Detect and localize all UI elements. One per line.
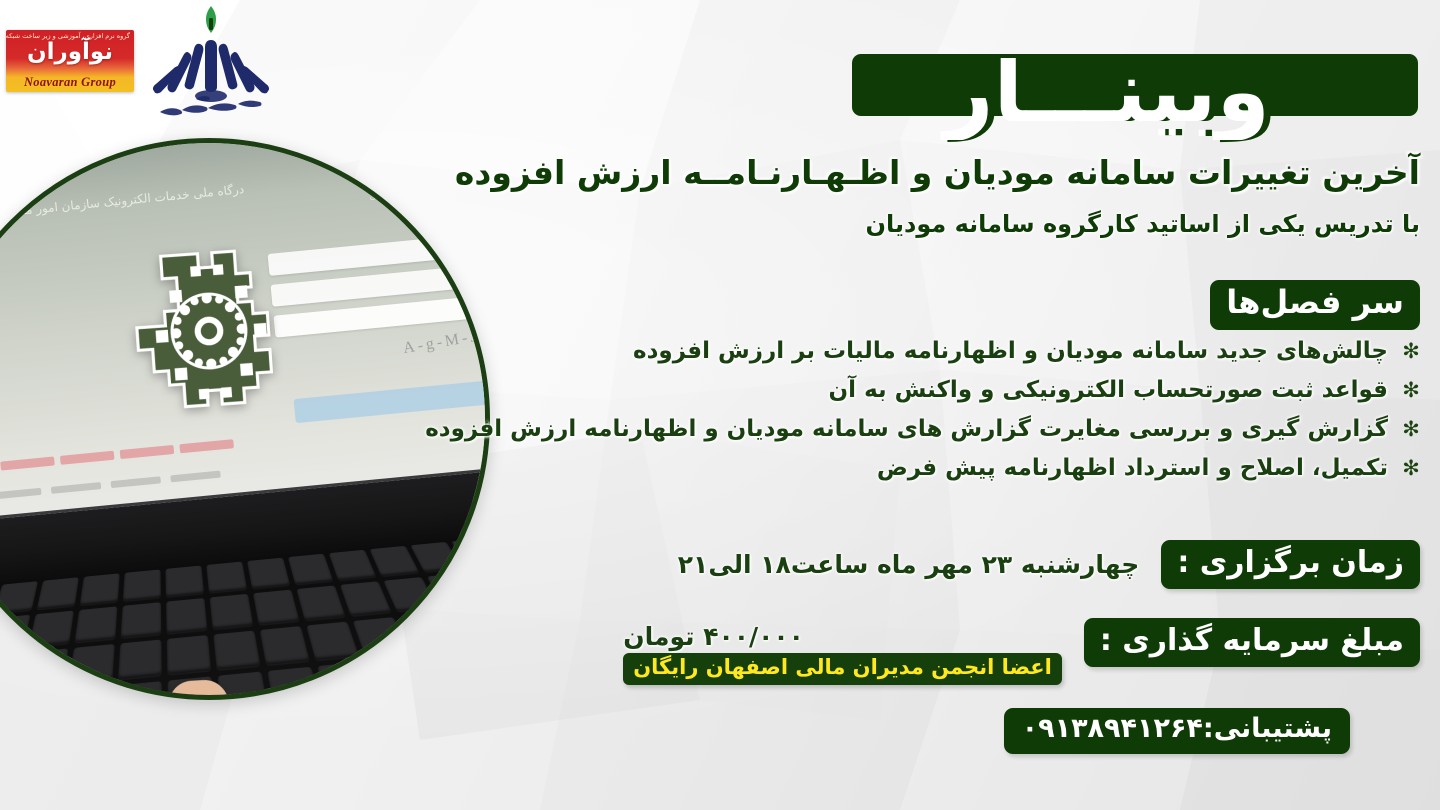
asterisk-icon: ✻ [1402, 336, 1420, 366]
price-label: مبلغ سرمایه گذاری : [1084, 618, 1420, 667]
samaneh-modian-laptop-photo: درگاه ملی خدمات الکترونیک سازمان امور ما… [0, 138, 490, 700]
webinar-poster: گروه نرم افزاری، آموزشی و زیر ساخت شبکه … [0, 0, 1440, 810]
screen-header-text: درگاه ملی خدمات الکترونیک سازمان امور ما… [0, 182, 245, 220]
price-row: مبلغ سرمایه گذاری : ۴۰۰/۰۰۰ تومان اعضا ا… [623, 618, 1420, 685]
topics-list: ✻ چالش‌های جدید سامانه مودیان و اظهارنام… [560, 336, 1420, 492]
event-time-label: زمان برگزاری : [1161, 540, 1420, 589]
list-item: ✻ تکمیل، اصلاح و استرداد اظهارنامه پیش ف… [560, 453, 1420, 483]
noavaran-title-en: Noavaran Group [6, 75, 134, 90]
topic-text: چالش‌های جدید سامانه مودیان و اظهارنامه … [633, 336, 1388, 366]
members-free-badge: اعضا انجمن مدیران مالی اصفهان رایگان [623, 653, 1062, 685]
list-item: ✻ چالش‌های جدید سامانه مودیان و اظهارنام… [560, 336, 1420, 366]
page-title: وبینـــاروبینـــار [824, 44, 1404, 140]
topic-text: گزارش گیری و بررسی مغایرت گزارش های ساما… [425, 414, 1388, 444]
price-value: ۴۰۰/۰۰۰ تومان [623, 622, 804, 651]
association-logo [152, 4, 270, 126]
screen-captcha-text: A-g-M-J [401, 328, 480, 358]
tax-organization-logo-icon [100, 221, 319, 440]
poster-content: وبینـــاروبینـــار آخرین تغییرات سامانه … [540, 0, 1440, 810]
list-item: ✻ گزارش گیری و بررسی مغایرت گزارش های سا… [560, 414, 1420, 444]
noavaran-group-logo: گروه نرم افزاری، آموزشی و زیر ساخت شبکه … [6, 30, 134, 92]
support-phone-badge[interactable]: پشتیبانی:۰۹۱۳۸۹۴۱۲۶۴ [1004, 708, 1350, 754]
topic-text: قواعد ثبت صورتحساب الکترونیکی و واکنش به… [829, 375, 1388, 405]
logo-row: گروه نرم افزاری، آموزشی و زیر ساخت شبکه … [6, 4, 270, 126]
subtitle: آخرین تغییرات سامانه مودیان و اظـهـارنـا… [582, 152, 1420, 195]
event-time-value: چهارشنبه ۲۳ مهر ماه ساعت۱۸ الی۲۱ [678, 550, 1140, 579]
noavaran-title-fa: نوآوران [6, 41, 134, 64]
asterisk-icon: ✻ [1402, 414, 1420, 444]
list-item: ✻ قواعد ثبت صورتحساب الکترونیکی و واکنش … [560, 375, 1420, 405]
asterisk-icon: ✻ [1402, 453, 1420, 483]
headline-block: وبینـــاروبینـــار [818, 44, 1418, 140]
asterisk-icon: ✻ [1402, 375, 1420, 405]
topic-text: تکمیل، اصلاح و استرداد اظهارنامه پیش فرض [877, 453, 1388, 483]
event-time-row: زمان برگزاری : چهارشنبه ۲۳ مهر ماه ساعت۱… [678, 540, 1420, 589]
keyboard-keys [0, 538, 490, 700]
topics-badge: سر فصل‌ها [1210, 280, 1420, 330]
presenter-line: با تدریس یکی از اساتید کارگروه سامانه مو… [582, 208, 1420, 242]
